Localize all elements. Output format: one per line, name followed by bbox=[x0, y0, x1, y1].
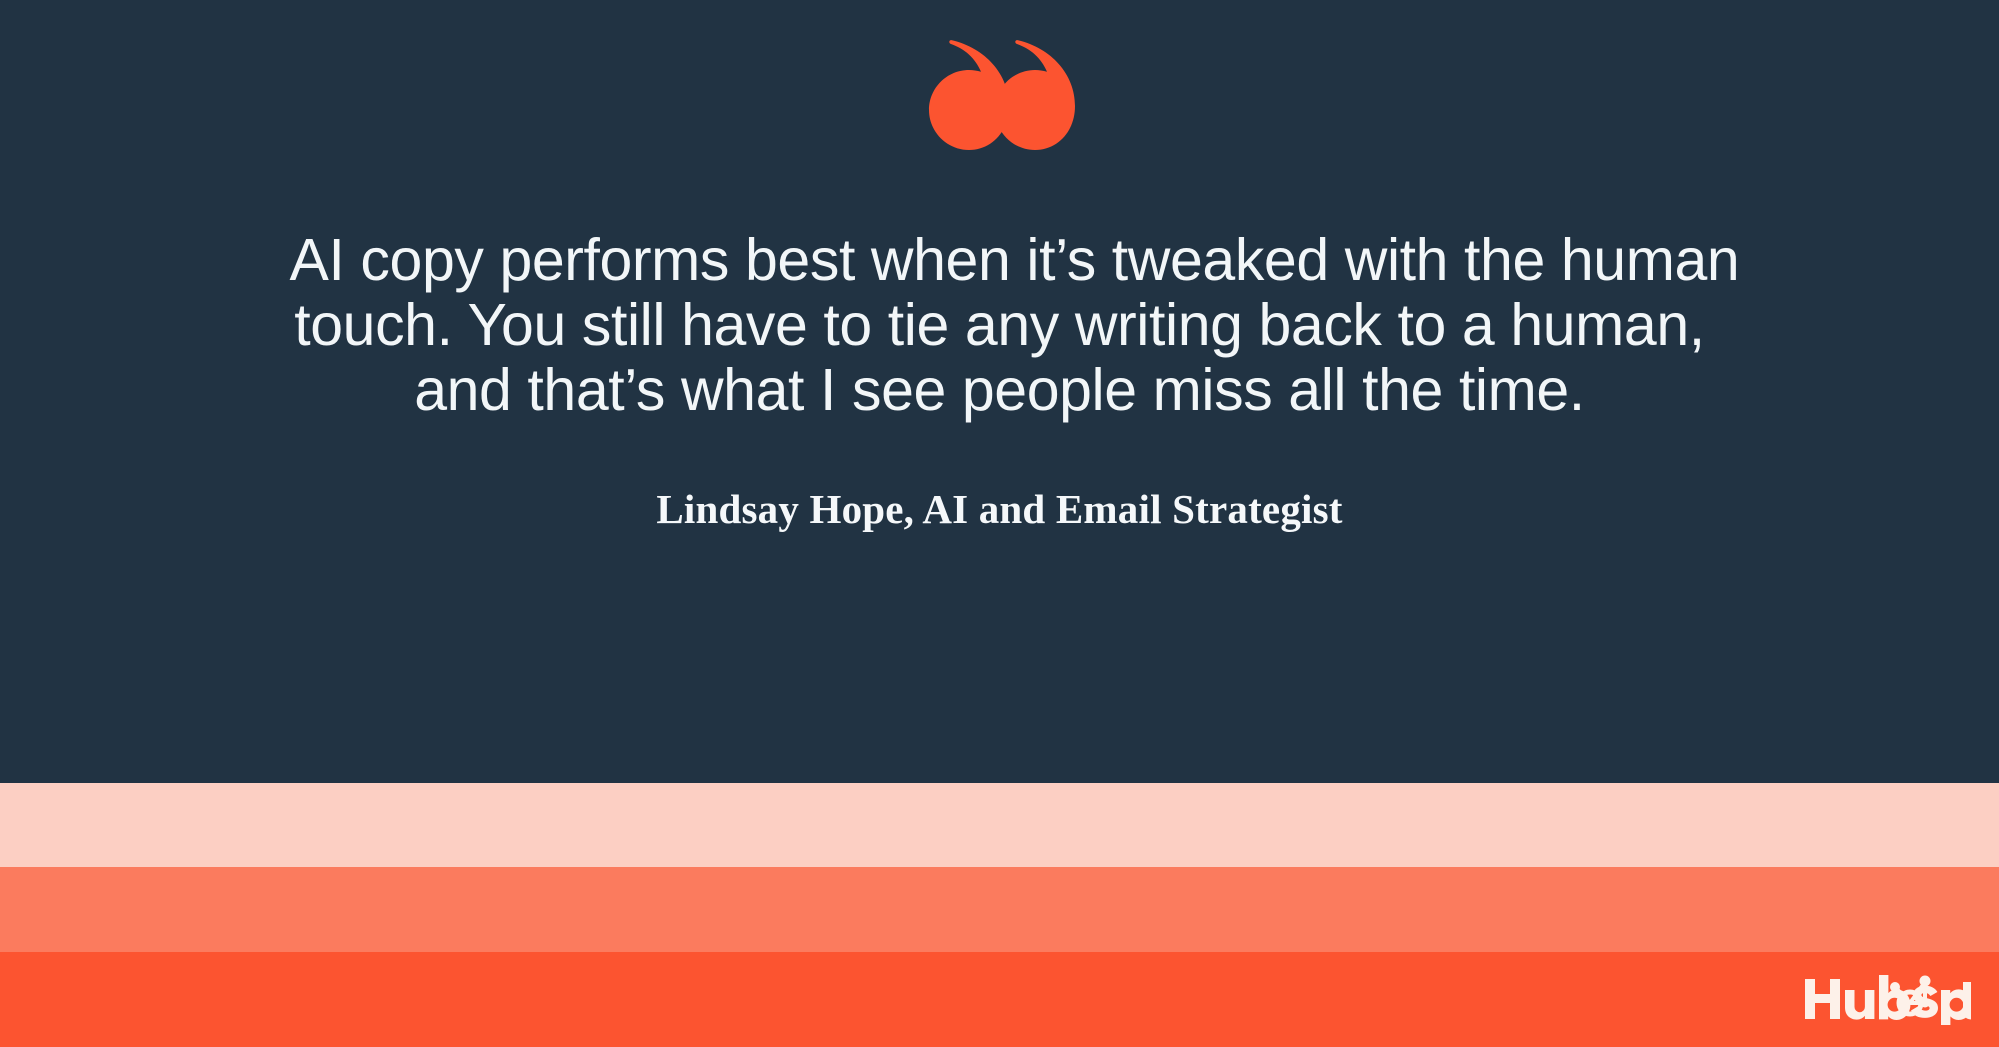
quote-line-3: and that’s what I see people miss all th… bbox=[290, 358, 1710, 423]
quote-slide: AI copy performs best when it’s tweaked … bbox=[0, 0, 1999, 1047]
quote-line-1: AI copy performs best when it’s tweaked … bbox=[290, 228, 1710, 293]
quote-line-2: touch. You still have to tie any writing… bbox=[290, 293, 1710, 358]
hubspot-sprocket-icon bbox=[1887, 973, 1933, 1019]
band-orange bbox=[0, 952, 1999, 1047]
quote-text-block: AI copy performs best when it’s tweaked … bbox=[290, 228, 1710, 423]
attribution-container: Lindsay Hope, AI and Email Strategist bbox=[0, 485, 1999, 533]
hubspot-logo bbox=[1803, 965, 1971, 1025]
band-salmon bbox=[0, 867, 1999, 952]
band-pink bbox=[0, 783, 1999, 867]
attribution-text: Lindsay Hope, AI and Email Strategist bbox=[656, 486, 1342, 532]
